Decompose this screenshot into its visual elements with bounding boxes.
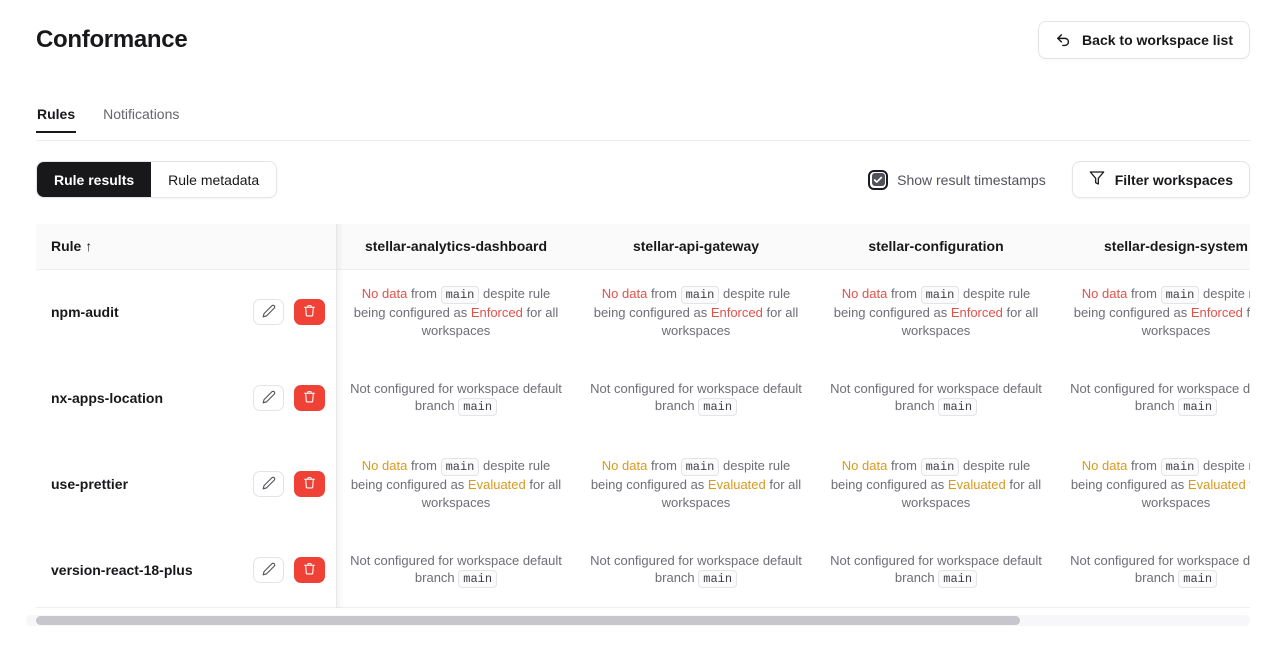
branch-badge: main — [441, 458, 480, 476]
cell-text: No data from main despite rule being con… — [834, 286, 1039, 338]
trash-icon — [303, 476, 316, 492]
branch-badge: main — [681, 286, 720, 304]
pencil-icon — [262, 562, 276, 579]
column-header-workspace[interactable]: stellar-configuration — [816, 224, 1056, 269]
column-header-workspace[interactable]: stellar-analytics-dashboard — [336, 224, 576, 269]
cell-text: Not configured for workspace default bra… — [590, 381, 802, 414]
cell-text: Not configured for workspace default bra… — [350, 553, 562, 586]
branch-badge: main — [681, 458, 720, 476]
edit-rule-button[interactable] — [253, 471, 284, 497]
result-cell: Not configured for workspace default bra… — [336, 355, 576, 441]
checkbox-focus-ring — [868, 170, 888, 190]
result-cell: Not configured for workspace default bra… — [336, 527, 576, 608]
back-button-label: Back to workspace list — [1082, 32, 1233, 48]
status-text: No data — [362, 458, 408, 473]
view-mode-segmented-control: Rule results Rule metadata — [36, 161, 277, 198]
column-header-rule-label: Rule — [51, 238, 81, 254]
rule-name: npm-audit — [51, 303, 119, 322]
tab-notifications[interactable]: Notifications — [102, 106, 180, 133]
table-head: Rule ↑ stellar-analytics-dashboard stell… — [36, 224, 1250, 269]
rule-name-cell: use-prettier — [36, 441, 336, 527]
branch-badge: main — [921, 286, 960, 304]
rule-name: nx-apps-location — [51, 389, 163, 408]
cell-text: No data from main despite rule being con… — [1071, 458, 1250, 510]
table-row: nx-apps-locationNot configured for works… — [36, 355, 1250, 441]
rule-name-cell: npm-audit — [36, 269, 336, 355]
cell-text: No data from main despite rule being con… — [354, 286, 559, 338]
pencil-icon — [262, 304, 276, 321]
status-text: No data — [602, 286, 648, 301]
result-cell: No data from main despite rule being con… — [1056, 441, 1250, 527]
cell-text: No data from main despite rule being con… — [351, 458, 561, 510]
status-text: No data — [842, 458, 888, 473]
page-header: Conformance Back to workspace list — [0, 0, 1286, 80]
pencil-icon — [262, 390, 276, 407]
horizontal-scrollbar-thumb[interactable] — [36, 616, 1020, 625]
segment-rule-results[interactable]: Rule results — [37, 162, 151, 197]
status-text: No data — [362, 286, 408, 301]
rule-actions — [253, 471, 325, 497]
rule-actions — [253, 557, 325, 583]
config-mode-text: Evaluated — [468, 477, 526, 492]
rule-name-cell: version-react-18-plus — [36, 527, 336, 608]
result-cell: No data from main despite rule being con… — [576, 269, 816, 355]
checkbox-label: Show result timestamps — [897, 172, 1046, 188]
edit-rule-button[interactable] — [253, 557, 284, 583]
cell-text: Not configured for workspace default bra… — [350, 381, 562, 414]
branch-badge: main — [1178, 398, 1217, 416]
edit-rule-button[interactable] — [253, 385, 284, 411]
filter-button-label: Filter workspaces — [1115, 172, 1233, 188]
trash-icon — [303, 304, 316, 320]
status-text: No data — [1082, 286, 1128, 301]
result-cell: Not configured for workspace default bra… — [816, 355, 1056, 441]
branch-badge: main — [1178, 570, 1217, 588]
result-cell: Not configured for workspace default bra… — [1056, 527, 1250, 608]
segment-rule-metadata[interactable]: Rule metadata — [151, 162, 276, 197]
result-cell: No data from main despite rule being con… — [816, 441, 1056, 527]
result-cell: Not configured for workspace default bra… — [1056, 355, 1250, 441]
rules-results-table-container[interactable]: Rule ↑ stellar-analytics-dashboard stell… — [36, 224, 1250, 608]
trash-icon — [303, 562, 316, 578]
table-bottom-border — [36, 607, 1250, 608]
tab-rules[interactable]: Rules — [36, 106, 76, 133]
config-mode-text: Enforced — [951, 305, 1003, 320]
result-cell: No data from main despite rule being con… — [1056, 269, 1250, 355]
pencil-icon — [262, 476, 276, 493]
delete-rule-button[interactable] — [294, 385, 325, 411]
toolbar-right-group: Show result timestamps Filter workspaces — [868, 161, 1250, 198]
branch-badge: main — [921, 458, 960, 476]
branch-badge: main — [458, 398, 497, 416]
column-header-rule[interactable]: Rule ↑ — [36, 224, 336, 269]
table-body: npm-auditNo data from main despite rule … — [36, 269, 1250, 608]
page-title: Conformance — [36, 28, 187, 52]
cell-text: Not configured for workspace default bra… — [590, 553, 802, 586]
config-mode-text: Evaluated — [708, 477, 766, 492]
filter-workspaces-button[interactable]: Filter workspaces — [1072, 161, 1250, 198]
result-cell: Not configured for workspace default bra… — [576, 355, 816, 441]
table-row: use-prettierNo data from main despite ru… — [36, 441, 1250, 527]
table-row: npm-auditNo data from main despite rule … — [36, 269, 1250, 355]
funnel-icon — [1089, 170, 1105, 189]
status-text: No data — [842, 286, 888, 301]
config-mode-text: Evaluated — [948, 477, 1006, 492]
conformance-page: Conformance Back to workspace list Rules… — [0, 0, 1286, 667]
checkbox-checked-box — [872, 173, 885, 186]
cell-text: Not configured for workspace default bra… — [830, 553, 1042, 586]
branch-badge: main — [698, 570, 737, 588]
branch-badge: main — [938, 398, 977, 416]
branch-badge: main — [458, 570, 497, 588]
status-text: No data — [1082, 458, 1128, 473]
result-cell: No data from main despite rule being con… — [816, 269, 1056, 355]
config-mode-text: Enforced — [711, 305, 763, 320]
branch-badge: main — [1161, 458, 1200, 476]
trash-icon — [303, 390, 316, 406]
sort-ascending-icon: ↑ — [85, 238, 92, 254]
config-mode-text: Enforced — [471, 305, 523, 320]
config-mode-text: Evaluated — [1188, 477, 1246, 492]
undo-arrow-icon — [1055, 32, 1072, 49]
rule-name-cell: nx-apps-location — [36, 355, 336, 441]
delete-rule-button[interactable] — [294, 299, 325, 325]
sticky-column-divider — [336, 224, 337, 608]
column-header-workspace[interactable]: stellar-design-system — [1056, 224, 1250, 269]
delete-rule-button[interactable] — [294, 557, 325, 583]
cell-text: No data from main despite rule being con… — [1074, 286, 1250, 338]
rule-actions — [253, 385, 325, 411]
branch-badge: main — [698, 398, 737, 416]
rule-name: use-prettier — [51, 475, 128, 494]
delete-rule-button[interactable] — [294, 471, 325, 497]
result-cell: Not configured for workspace default bra… — [576, 527, 816, 608]
branch-badge: main — [441, 286, 480, 304]
rule-name: version-react-18-plus — [51, 561, 193, 580]
result-cell: No data from main despite rule being con… — [336, 269, 576, 355]
show-result-timestamps-checkbox[interactable]: Show result timestamps — [868, 170, 1046, 190]
rule-actions — [253, 299, 325, 325]
cell-text: No data from main despite rule being con… — [831, 458, 1041, 510]
column-header-workspace[interactable]: stellar-api-gateway — [576, 224, 816, 269]
cell-text: No data from main despite rule being con… — [594, 286, 799, 338]
branch-badge: main — [1161, 286, 1200, 304]
rules-results-table: Rule ↑ stellar-analytics-dashboard stell… — [36, 224, 1250, 608]
status-text: No data — [602, 458, 648, 473]
result-cell: No data from main despite rule being con… — [336, 441, 576, 527]
table-row: version-react-18-plusNot configured for … — [36, 527, 1250, 608]
cell-text: Not configured for workspace default bra… — [1070, 553, 1250, 586]
cell-text: No data from main despite rule being con… — [591, 458, 801, 510]
result-cell: No data from main despite rule being con… — [576, 441, 816, 527]
cell-text: Not configured for workspace default bra… — [830, 381, 1042, 414]
table-header-row: Rule ↑ stellar-analytics-dashboard stell… — [36, 224, 1250, 269]
result-cell: Not configured for workspace default bra… — [816, 527, 1056, 608]
back-to-workspace-list-button[interactable]: Back to workspace list — [1038, 21, 1250, 59]
edit-rule-button[interactable] — [253, 299, 284, 325]
toolbar: Rule results Rule metadata Show result t… — [36, 161, 1250, 198]
cell-text: Not configured for workspace default bra… — [1070, 381, 1250, 414]
tab-bar: Rules Notifications — [0, 106, 1286, 141]
config-mode-text: Enforced — [1191, 305, 1243, 320]
branch-badge: main — [938, 570, 977, 588]
